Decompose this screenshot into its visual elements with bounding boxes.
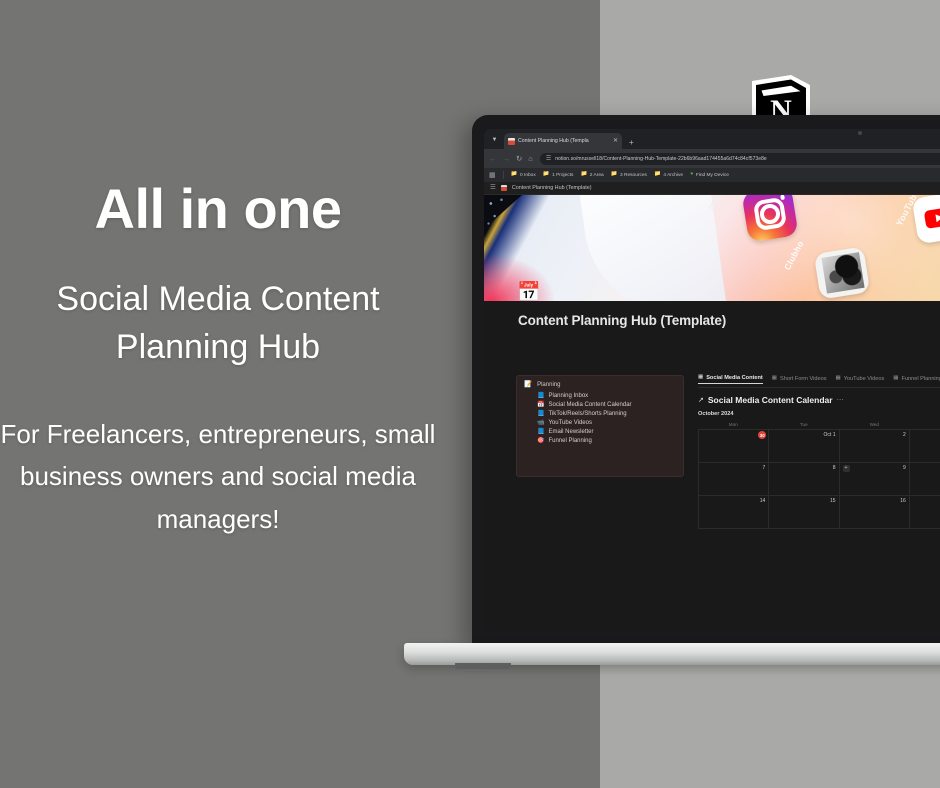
browser-omnibar: ← → ↻ ⌂ ☰ notion.so/mrussell18/Content-P… (484, 149, 940, 168)
calendar-icon: 📅 (537, 402, 544, 408)
bookmark-resources[interactable]: 📁 3 Resources (611, 172, 647, 178)
nav-item-label: TikTok/Reels/Shorts Planning (548, 411, 626, 417)
notion-page-favicon (508, 138, 515, 145)
video-icon: 📹 (537, 420, 544, 426)
tab-label: Social Media Content (706, 375, 763, 381)
instagram-dot (780, 195, 785, 200)
tab-label: YouTube Videos (844, 376, 885, 382)
nav-item-youtube-videos[interactable]: 📹 YouTube Videos (524, 419, 676, 428)
bookmark-label: 3 Resources (620, 173, 647, 178)
calendar-cell[interactable]: 2 (840, 430, 910, 463)
browser-tab-title: Content Planning Hub (Templa (518, 138, 610, 144)
instagram-label: Instagram (706, 195, 737, 212)
apps-grid-icon[interactable]: ▦ (489, 172, 496, 179)
calendar-cell[interactable]: 7 (699, 463, 769, 496)
calendar-day-number: 16 (900, 498, 906, 504)
calendar-day-number: 14 (760, 498, 766, 504)
reload-icon[interactable]: ↻ (516, 155, 522, 163)
hamburger-menu-icon[interactable]: ☰ (490, 185, 496, 192)
day-header-tue: Tue (769, 422, 840, 427)
laptop-foot (455, 663, 511, 669)
promo-graphic: All in one Social Media Content Planning… (0, 0, 940, 788)
nav-item-social-media-content-calendar[interactable]: 📅 Social Media Content Calendar (524, 401, 676, 410)
ellipsis-icon[interactable]: ⋯ (837, 397, 844, 404)
nav-item-funnel-planning[interactable]: 🎯 Funnel Planning (524, 437, 676, 446)
bookmark-projects[interactable]: 📁 1 Projects (543, 172, 574, 178)
day-header-wed: Wed (839, 422, 910, 427)
database-title-row: ↗ Social Media Content Calendar ⋯ (698, 395, 940, 405)
bookmark-label: 0 Inbox (520, 173, 536, 178)
bookmarks-bar: ▦ 📁 0 Inbox 📁 1 Projects 📁 2 Area (484, 168, 940, 182)
laptop-lid: ▼ Content Planning Hub (Templa ✕ + ← → ↻… (472, 115, 940, 645)
planning-nav-card: 📝 Planning 📘 Planning Inbox 📅 Social Med… (516, 375, 684, 477)
marketing-copy: All in one Social Media Content Planning… (0, 180, 436, 540)
calendar-day-number: 15 (830, 498, 836, 504)
youtube-play-badge (924, 207, 940, 229)
calendar-cell[interactable]: 14 (699, 496, 769, 529)
nav-item-label: YouTube Videos (548, 420, 591, 426)
page-emoji-icon[interactable]: 📅 (517, 283, 541, 302)
day-header-thu (910, 422, 940, 427)
bookmark-label: Find My Device (696, 173, 729, 178)
laptop-screen: ▼ Content Planning Hub (Templa ✕ + ← → ↻… (484, 129, 940, 631)
bookmark-archive[interactable]: 📁 4 Archive (654, 172, 683, 178)
database-area: ▦ Social Media Content ▦ Short Form Vide… (698, 375, 940, 631)
divider (503, 171, 504, 179)
database-title[interactable]: Social Media Content Calendar (708, 395, 833, 405)
instagram-icon (741, 195, 798, 243)
folder-icon: 📁 (511, 172, 518, 178)
bookmark-area[interactable]: 📁 2 Area (580, 172, 603, 178)
folder-icon: 📁 (580, 172, 587, 178)
cover-highlight (579, 195, 727, 301)
clubhouse-label: Clubho (782, 239, 806, 272)
nav-item-label: Email Newsletter (548, 429, 593, 435)
page-icon: 📘 (537, 411, 544, 417)
calendar-day-number: 9 (903, 465, 906, 471)
calendar-cell[interactable]: + 9 (840, 463, 910, 496)
breadcrumb: ☰ Content Planning Hub (Template) (484, 182, 940, 195)
bookmark-find-my-device[interactable]: ● Find My Device (690, 172, 729, 178)
nav-card-title: Planning (537, 382, 560, 388)
arrow-right-icon[interactable]: → (503, 155, 511, 163)
day-header-mon: Mon (698, 422, 769, 427)
browser-window: ▼ Content Planning Hub (Templa ✕ + ← → ↻… (484, 129, 940, 631)
calendar-cell[interactable]: 15 (769, 496, 839, 529)
close-icon[interactable]: ✕ (613, 138, 618, 144)
play-triangle-icon (935, 213, 940, 222)
add-entry-button[interactable]: + (843, 465, 850, 472)
calendar-day-number: Oct 1 (824, 432, 836, 438)
target-icon: 🎯 (537, 438, 544, 444)
nav-item-planning-inbox[interactable]: 📘 Planning Inbox (524, 392, 676, 401)
page-cover-image: Instagram Clubho YouTube (484, 195, 940, 301)
chevron-down-icon[interactable]: ▼ (487, 132, 502, 147)
nav-card-header: 📝 Planning (524, 382, 676, 389)
folder-icon: 📁 (654, 172, 661, 178)
calendar-day-number-today: 30 (758, 431, 766, 439)
cover-texture (484, 195, 522, 229)
nav-item-tiktok-reels-shorts-planning[interactable]: 📘 TikTok/Reels/Shorts Planning (524, 410, 676, 419)
clubhouse-photo (821, 252, 864, 294)
calendar-day-headers: Mon Tue Wed (698, 422, 940, 427)
nav-item-email-newsletter[interactable]: 📘 Email Newsletter (524, 428, 676, 437)
folder-icon: 📁 (543, 172, 550, 178)
browser-tab-strip: ▼ Content Planning Hub (Templa ✕ + (484, 129, 940, 149)
calendar-cell[interactable]: 16 (840, 496, 910, 529)
nav-item-label: Social Media Content Calendar (548, 402, 631, 408)
url-bar[interactable]: ☰ notion.so/mrussell18/Content-Planning-… (540, 153, 940, 165)
planning-icon: 📝 (524, 382, 532, 389)
calendar-day-number: 2 (903, 432, 906, 438)
laptop-base (404, 643, 940, 665)
url-text: notion.so/mrussell18/Content-Planning-Hu… (555, 156, 767, 162)
subheadline: Social Media Content Planning Hub (0, 275, 436, 372)
notion-page-favicon (501, 185, 507, 191)
tab-search-icon: ☰ (546, 156, 551, 162)
bookmark-label: 4 Archive (663, 173, 683, 178)
page-icon: 📘 (537, 429, 544, 435)
calendar-cell[interactable] (910, 430, 940, 463)
bookmark-inbox[interactable]: 📁 0 Inbox (511, 172, 536, 178)
bookmark-label: 2 Area (590, 173, 604, 178)
calendar-cell[interactable]: 30 (699, 430, 769, 463)
calendar-cell[interactable] (910, 463, 940, 496)
calendar-day-number: 8 (833, 465, 836, 471)
headline: All in one (0, 180, 436, 239)
tab-youtube-videos[interactable]: ▦ YouTube Videos (836, 376, 885, 384)
tab-short-form-videos[interactable]: ▦ Short Form Videos (772, 376, 827, 384)
arrow-left-icon[interactable]: ← (489, 155, 497, 163)
calendar-cell[interactable]: 8 (769, 463, 839, 496)
tab-funnel-planning[interactable]: ▦ Funnel Planning (893, 376, 940, 384)
calendar-day-number: 7 (762, 465, 765, 471)
folder-icon: 📁 (611, 172, 618, 178)
nav-item-label: Planning Inbox (548, 393, 588, 399)
calendar-cell[interactable]: Oct 1 (769, 430, 839, 463)
calendar-cell[interactable] (910, 496, 940, 529)
calendar-icon: ▦ (772, 376, 777, 382)
tab-label: Short Form Videos (780, 376, 827, 382)
webcam-icon (858, 131, 862, 135)
home-icon[interactable]: ⌂ (528, 155, 533, 163)
page-title: Content Planning Hub (Template) (518, 313, 726, 328)
calendar-icon: ▦ (836, 376, 841, 382)
clubhouse-icon (814, 246, 871, 299)
plus-icon[interactable]: + (629, 139, 634, 147)
nav-item-label: Funnel Planning (548, 438, 591, 444)
tab-social-media-content[interactable]: ▦ Social Media Content (698, 375, 763, 384)
calendar-month-label: October 2024 (698, 411, 940, 417)
page-icon: 📘 (537, 393, 544, 399)
calendar-grid: 30 Oct 1 2 (698, 429, 940, 529)
notion-page: Instagram Clubho YouTube 📅 (484, 195, 940, 631)
open-in-icon[interactable]: ↗ (698, 397, 704, 404)
audience-blurb: For Freelancers, entrepreneurs, small bu… (0, 413, 436, 539)
tab-label: Funnel Planning (901, 376, 940, 382)
database-view-tabs: ▦ Social Media Content ▦ Short Form Vide… (698, 375, 940, 388)
browser-tab[interactable]: Content Planning Hub (Templa ✕ (504, 133, 622, 149)
calendar-icon: ▦ (893, 376, 898, 382)
location-icon: ● (690, 172, 693, 178)
calendar-icon: ▦ (698, 375, 703, 381)
page-body: 📝 Planning 📘 Planning Inbox 📅 Social Med… (484, 375, 940, 631)
bookmark-label: 1 Projects (552, 173, 573, 178)
breadcrumb-label[interactable]: Content Planning Hub (Template) (512, 185, 592, 191)
